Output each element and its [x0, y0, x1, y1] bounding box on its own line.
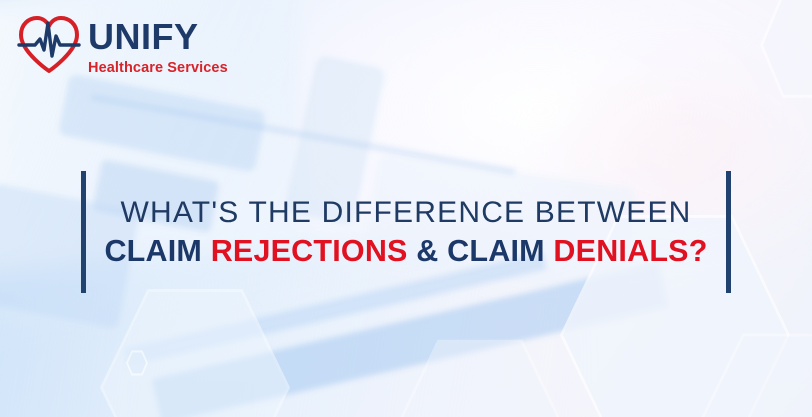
headline-segment-3: DENIALS? — [553, 234, 707, 268]
hexagon-decor-icon — [760, 0, 812, 100]
brand-name: UNIFY — [88, 19, 228, 55]
promo-banner: UNIFY Healthcare Services WHAT'S THE DIF… — [0, 0, 812, 417]
headline-block: WHAT'S THE DIFFERENCE BETWEEN CLAIM REJE… — [81, 171, 731, 293]
brand-logo-text: UNIFY Healthcare Services — [88, 15, 228, 76]
headline-right-rule — [726, 171, 731, 293]
background-desk-edge — [91, 95, 515, 175]
heart-ekg-icon — [16, 14, 82, 76]
hexagon-decor-icon — [395, 336, 565, 417]
headline-line-2: CLAIM REJECTIONS & CLAIM DENIALS? — [104, 234, 707, 269]
brand-logo[interactable]: UNIFY Healthcare Services — [16, 14, 228, 76]
headline-line-1: WHAT'S THE DIFFERENCE BETWEEN — [120, 196, 691, 230]
headline-segment-1: REJECTIONS — [211, 234, 408, 268]
background-desk-shape — [58, 73, 266, 172]
headline-segment-2: & CLAIM — [408, 234, 554, 268]
hexagon-decor-icon — [100, 285, 290, 417]
headline-segment-0: CLAIM — [104, 234, 210, 268]
headline-text: WHAT'S THE DIFFERENCE BETWEEN CLAIM REJE… — [86, 171, 726, 293]
brand-tagline: Healthcare Services — [88, 61, 228, 76]
